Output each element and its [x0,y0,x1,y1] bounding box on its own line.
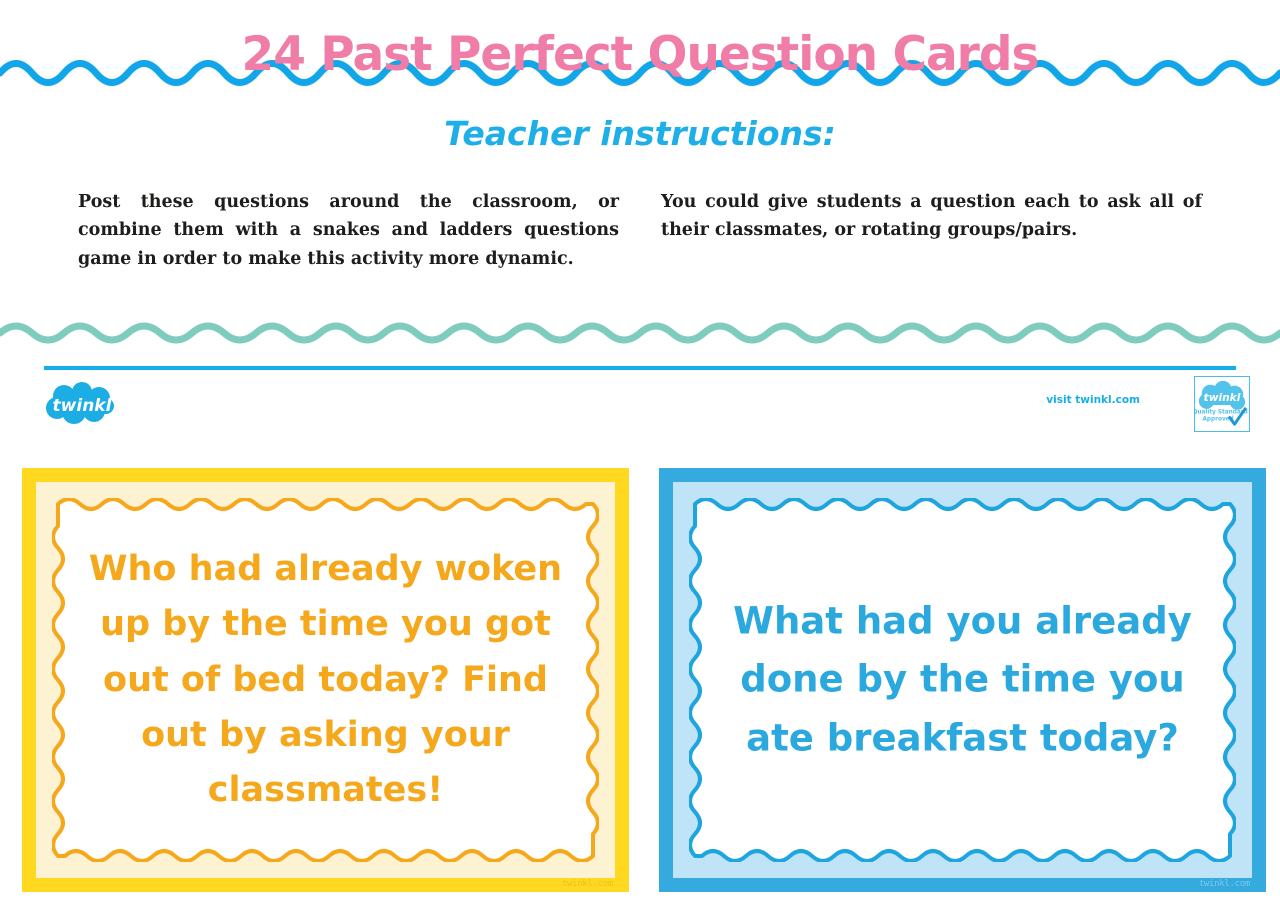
card-question-text: Who had already woken up by the time you… [84,542,567,818]
footer-divider [44,366,1236,370]
twinkl-logo[interactable]: twinkl [44,382,120,426]
card-question-text: What had you already done by the time yo… [721,592,1204,767]
question-card[interactable]: Who had already woken up by the time you… [22,468,629,892]
worksheet-page: 24 Past Perfect Question Cards Teacher i… [0,0,1280,905]
card-inner-panel: Who had already woken up by the time you… [36,482,615,878]
visit-twinkl-link[interactable]: visit twinkl.com [1046,394,1140,406]
svg-text:twinkl: twinkl [53,396,113,416]
instructions-column-left: Post these questions around the classroo… [78,188,619,273]
page-footer: twinkl visit twinkl.com twinkl Quality S… [0,372,1280,442]
card-frame: What had you already done by the time yo… [659,468,1266,892]
question-card[interactable]: What had you already done by the time yo… [659,468,1266,892]
question-cards-row: Who had already woken up by the time you… [0,468,1280,892]
page-subtitle: Teacher instructions: [0,114,1280,153]
svg-text:twinkl: twinkl [1204,392,1241,404]
mid-wave-decoration [0,316,1280,350]
teacher-instructions: Post these questions around the classroo… [78,188,1202,273]
quality-standard-badge: twinkl Quality Standard Approved [1194,376,1250,432]
page-title: 24 Past Perfect Question Cards [0,30,1280,79]
card-watermark: twinkl.com [562,879,613,889]
card-frame: Who had already woken up by the time you… [22,468,629,892]
card-watermark: twinkl.com [1199,879,1250,889]
instructions-column-right: You could give students a question each … [661,188,1202,273]
card-inner-panel: What had you already done by the time yo… [673,482,1252,878]
